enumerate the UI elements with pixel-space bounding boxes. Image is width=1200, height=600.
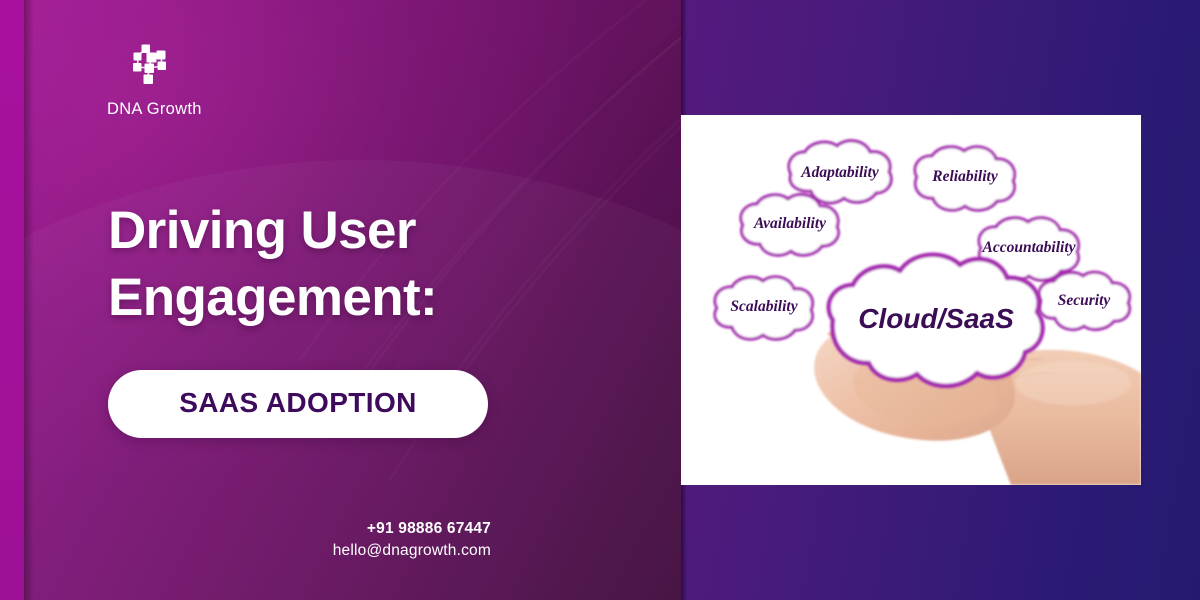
node-network-icon <box>125 38 181 92</box>
bubble-label-security: Security <box>1058 292 1111 309</box>
illustration-photo: Adaptability Reliability Availability Ac… <box>681 115 1141 485</box>
contact-block: +91 98886 67447 hello@dnagrowth.com <box>333 518 491 562</box>
headline-line-2: Engagement: <box>108 265 628 332</box>
page-title: Driving User Engagement: <box>108 198 628 332</box>
saas-adoption-button-label: SAAS ADOPTION <box>179 387 417 418</box>
brand-logo[interactable]: DNA Growth <box>107 38 337 119</box>
cloud-saas-diagram: Adaptability Reliability Availability Ac… <box>681 115 1141 485</box>
bubble-label-scalability: Scalability <box>730 298 797 315</box>
right-image-panel: Adaptability Reliability Availability Ac… <box>681 0 1200 600</box>
headline-line-1: Driving User <box>108 198 628 265</box>
left-content-panel: DNA Growth Driving User Engagement: SAAS… <box>0 0 681 600</box>
bubble-label-adaptability: Adaptability <box>800 164 879 181</box>
bubble-label-cloud-saas: Cloud/SaaS <box>858 303 1014 334</box>
bubble-label-accountability: Accountability <box>982 239 1076 256</box>
bubble-label-availability: Availability <box>753 215 826 232</box>
left-accent-strip <box>0 0 24 600</box>
bubble-label-reliability: Reliability <box>931 168 998 185</box>
contact-phone[interactable]: +91 98886 67447 <box>333 518 491 540</box>
left-accent-strip-shadow <box>24 0 34 600</box>
marketing-banner: DNA Growth Driving User Engagement: SAAS… <box>0 0 1200 600</box>
brand-name: DNA Growth <box>107 100 337 119</box>
contact-email[interactable]: hello@dnagrowth.com <box>333 540 491 562</box>
saas-adoption-button[interactable]: SAAS ADOPTION <box>108 370 488 438</box>
